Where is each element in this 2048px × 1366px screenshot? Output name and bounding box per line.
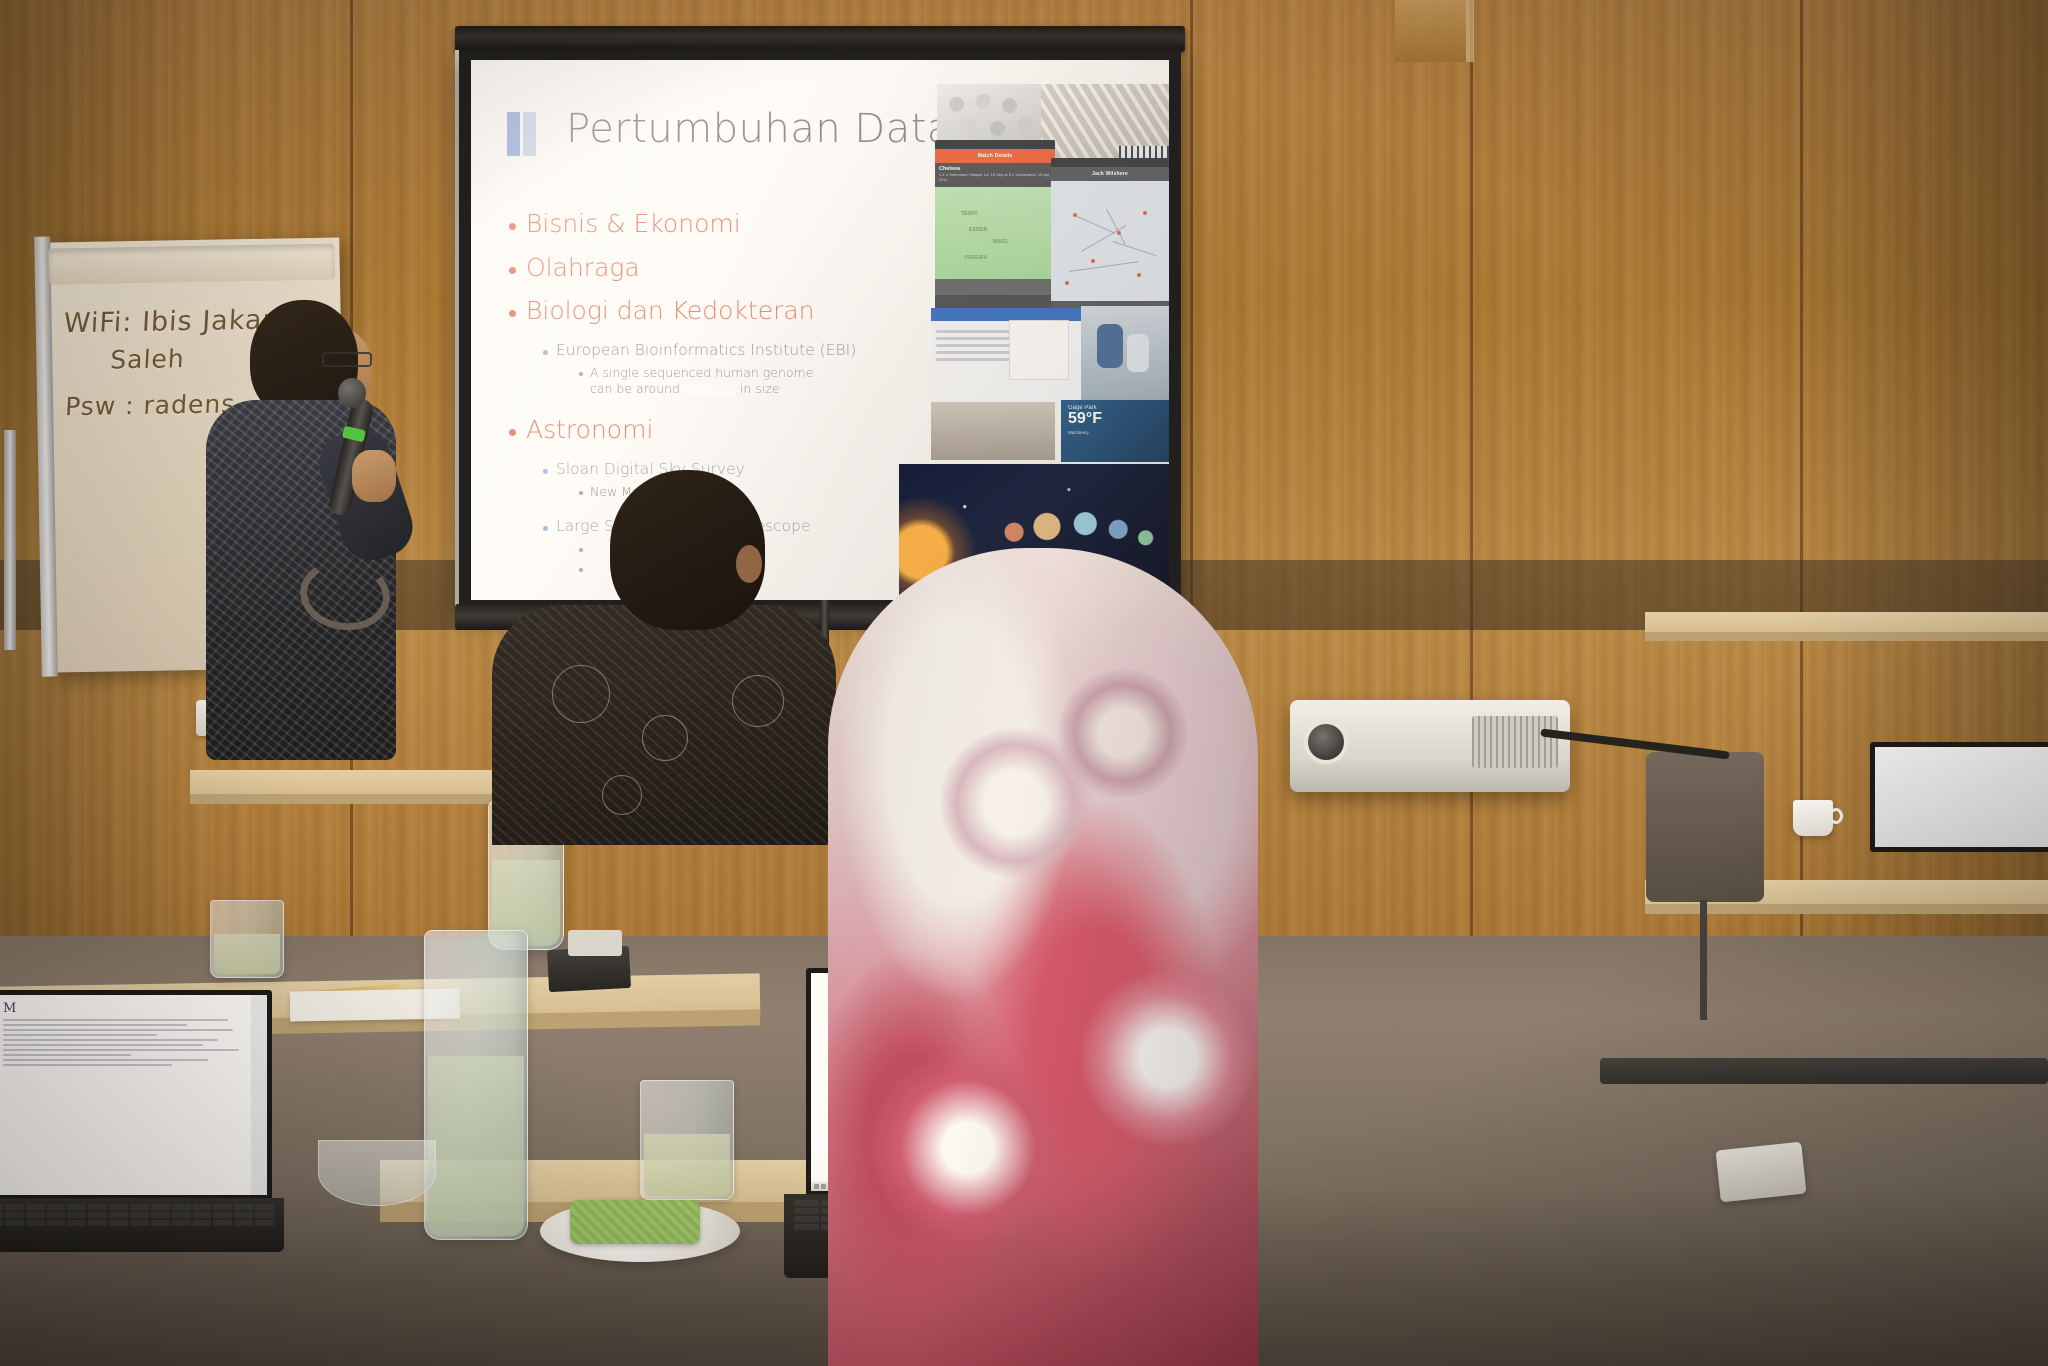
office-chair <box>1646 752 1764 902</box>
glass-water <box>644 1134 730 1196</box>
phone-match-header: Chelsea 1-1 v Tottenham Hotspur Ld, 15 S… <box>935 163 1055 187</box>
bullet-item: Biologi dan Kedokteran <box>509 297 909 325</box>
weather-caption: Machinery <box>1068 430 1166 435</box>
laptop-left-display: M <box>0 995 267 1195</box>
sub-bullet-label: European Bioinformatics Institute (EBI) <box>556 341 856 359</box>
projection-screen: Pertumbuhan Data Bisnis & Ekonomi Olahra… <box>455 26 1185 630</box>
drinking-glass <box>640 1080 734 1200</box>
coffee-cup <box>1793 800 1833 836</box>
bullet-label: Olahraga <box>526 254 640 282</box>
sports-analytics-phone: Match Details Chelsea 1-1 v Tottenham Ho… <box>935 140 1055 310</box>
floral-hijab <box>828 548 1258 1366</box>
bullet-dot-icon <box>579 568 583 572</box>
pitch-diagram: TERRY ESSIEN MIKEL PEREIRA <box>935 187 1055 279</box>
bullet-item: Bisnis & Ekonomi <box>509 210 909 238</box>
glass-bowl <box>318 1140 436 1206</box>
document-heading: M <box>3 1001 259 1016</box>
green-cake <box>570 1200 700 1244</box>
medical-staff-photo <box>1081 306 1169 406</box>
projector-table <box>1600 1058 2048 1084</box>
phone-status-bar <box>1051 158 1169 167</box>
document-page: M <box>0 995 267 1195</box>
projector-lens <box>1304 720 1348 764</box>
bullet-dot-icon <box>543 350 548 355</box>
room-photograph: WiFi: Ibis Jakarta Saleh Psw : radens Pe… <box>0 0 2048 1366</box>
redacted-value <box>684 384 736 395</box>
eyeglasses <box>322 352 372 367</box>
bullet-dot-icon <box>579 372 583 376</box>
attendee-ear <box>736 545 762 583</box>
sub-sub-bullet-item: A single sequenced human genome can be a… <box>579 365 909 399</box>
glass-water <box>214 934 280 974</box>
drinking-glass <box>210 900 284 978</box>
pitch-player-label: TERRY <box>961 211 978 217</box>
screen-top-bar <box>455 26 1185 52</box>
weather-location: Gage Park <box>1068 405 1166 411</box>
microphone-head <box>338 378 366 408</box>
batik-motif <box>642 715 688 761</box>
laptop-left-base[interactable] <box>0 1198 284 1252</box>
genome-line-3: in size <box>740 381 780 396</box>
sub-sub-bullet-label <box>590 541 594 558</box>
bullet-item: Olahraga <box>509 254 909 282</box>
genome-line-2: can be around <box>590 381 680 396</box>
projector <box>1290 700 1570 792</box>
flipchart-paper-roll <box>48 244 335 285</box>
bullet-label: Astronomi <box>526 416 653 444</box>
batik-motif <box>552 665 610 723</box>
phone-footer <box>935 279 1055 295</box>
slide-accent-bars <box>507 112 536 156</box>
wall-trim <box>1395 0 1467 62</box>
document-thumbnail <box>1009 320 1069 380</box>
bullet-item: Astronomi <box>509 416 909 444</box>
screen-border: Pertumbuhan Data Bisnis & Ekonomi Olahra… <box>459 50 1181 610</box>
bullet-dot-icon <box>509 267 516 274</box>
genome-line-1: A single sequenced human genome <box>590 365 813 380</box>
phone-nav-label: Jack Wilshere <box>1092 171 1128 177</box>
bullet-dot-icon <box>543 469 548 474</box>
laptop-left-screen: M <box>0 990 272 1200</box>
document-sidebar <box>251 995 267 1195</box>
bullet-label: Biologi dan Kedokteran <box>526 297 815 325</box>
pitch-player-label: MIKEL <box>993 239 1009 245</box>
phone-status-bar <box>935 140 1055 149</box>
wall-trim-edge <box>1466 0 1474 62</box>
batik-motif <box>732 675 784 727</box>
phone-nav-bar: Jack Wilshere <box>1051 167 1169 181</box>
back-table <box>1645 612 2048 634</box>
laptop-right-screen <box>1870 742 2048 852</box>
match-line: 1-1 v Tottenham Hotspur Ld, 15 Sep at 5 … <box>939 172 1051 182</box>
laptop-left-keyboard[interactable] <box>0 1204 274 1246</box>
chair-leg <box>1700 900 1707 1020</box>
bullet-dot-icon <box>579 491 583 495</box>
network-graph-phone: Jack Wilshere <box>1051 158 1169 312</box>
batik-motif <box>602 775 642 815</box>
projector-vent <box>1472 716 1558 768</box>
bullet-dot-icon <box>579 548 583 552</box>
weather-temperature: 59°F <box>1068 411 1166 427</box>
hijab-shading <box>828 548 1258 1366</box>
sub-bullet-item: European Bioinformatics Institute (EBI) <box>543 341 909 359</box>
hospital-corridor-photo <box>931 402 1055 460</box>
bullet-label: Bisnis & Ekonomi <box>526 210 741 238</box>
network-canvas <box>1051 181 1169 301</box>
pitch-player-label: ESSIEN <box>969 227 987 233</box>
phone-nav-bar: Match Details <box>935 149 1055 163</box>
medical-figure <box>1127 334 1149 372</box>
presentation-slide: Pertumbuhan Data Bisnis & Ekonomi Olahra… <box>471 60 1169 600</box>
attendee-batik-shirt <box>492 605 836 845</box>
bullet-dot-icon <box>543 526 548 531</box>
sub-sub-bullet-label: A single sequenced human genome can be a… <box>590 365 813 399</box>
medical-figure <box>1097 324 1123 368</box>
cup-handle <box>1829 808 1843 824</box>
pitch-player-label: PEREIRA <box>965 255 987 261</box>
sub-sub-bullet-label <box>590 561 594 578</box>
bullet-dot-icon <box>509 429 516 436</box>
phone-nav-label: Match Details <box>978 153 1013 159</box>
laptop-right-display <box>1875 747 2048 847</box>
slide-image-collage: Match Details Chelsea 1-1 v Tottenham Ho… <box>891 84 1169 584</box>
power-strip[interactable] <box>1716 1142 1807 1203</box>
presenter-hand <box>352 450 396 502</box>
screen-surface: Pertumbuhan Data Bisnis & Ekonomi Olahra… <box>471 60 1169 600</box>
flipchart-legs <box>4 430 16 650</box>
small-device <box>568 930 622 956</box>
water-pitcher <box>424 930 528 1240</box>
network-graph <box>1051 181 1169 301</box>
bullet-dot-icon <box>509 223 516 230</box>
weather-widget: Gage Park 59°F Machinery <box>1061 400 1169 462</box>
bullet-dot-icon <box>509 310 516 317</box>
back-table-edge <box>1645 632 2048 641</box>
sub-bullet-item: Sloan Digital Sky Survey <box>543 460 909 478</box>
pitcher-water <box>428 1056 524 1236</box>
